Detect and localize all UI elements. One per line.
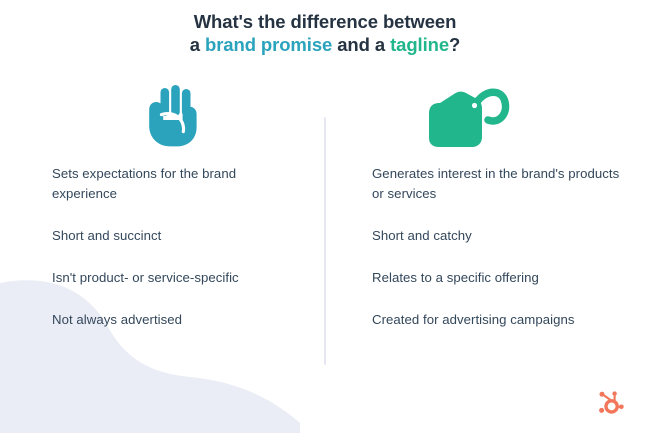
title-line-1: What's the difference between (0, 10, 650, 33)
list-item: Short and catchy (372, 226, 628, 246)
tagline-column: Generates interest in the brand's produc… (372, 164, 628, 330)
infographic-canvas: What's the difference between a brand pr… (0, 0, 650, 433)
title-highlight-brand-promise: brand promise (205, 34, 332, 55)
list-item: Sets expectations for the brand experien… (52, 164, 300, 204)
hand-promise-icon (142, 84, 204, 148)
list-item: Short and succinct (52, 226, 300, 246)
list-item: Not always advertised (52, 310, 300, 330)
column-divider (324, 117, 326, 365)
title-line-2: a brand promise and a tagline? (0, 33, 650, 56)
list-item: Relates to a specific offering (372, 268, 628, 288)
price-tag-icon (428, 82, 510, 148)
page-title: What's the difference between a brand pr… (0, 10, 650, 56)
title-segment-a: a (190, 34, 205, 55)
hubspot-sprocket-logo (596, 389, 624, 415)
brand-promise-column: Sets expectations for the brand experien… (52, 164, 300, 330)
title-segment-question-mark: ? (449, 34, 460, 55)
list-item: Isn't product- or service-specific (52, 268, 300, 288)
list-item: Created for advertising campaigns (372, 310, 628, 330)
title-highlight-tagline: tagline (390, 34, 449, 55)
list-item: Generates interest in the brand's produc… (372, 164, 628, 204)
title-segment-and-a: and a (332, 34, 390, 55)
